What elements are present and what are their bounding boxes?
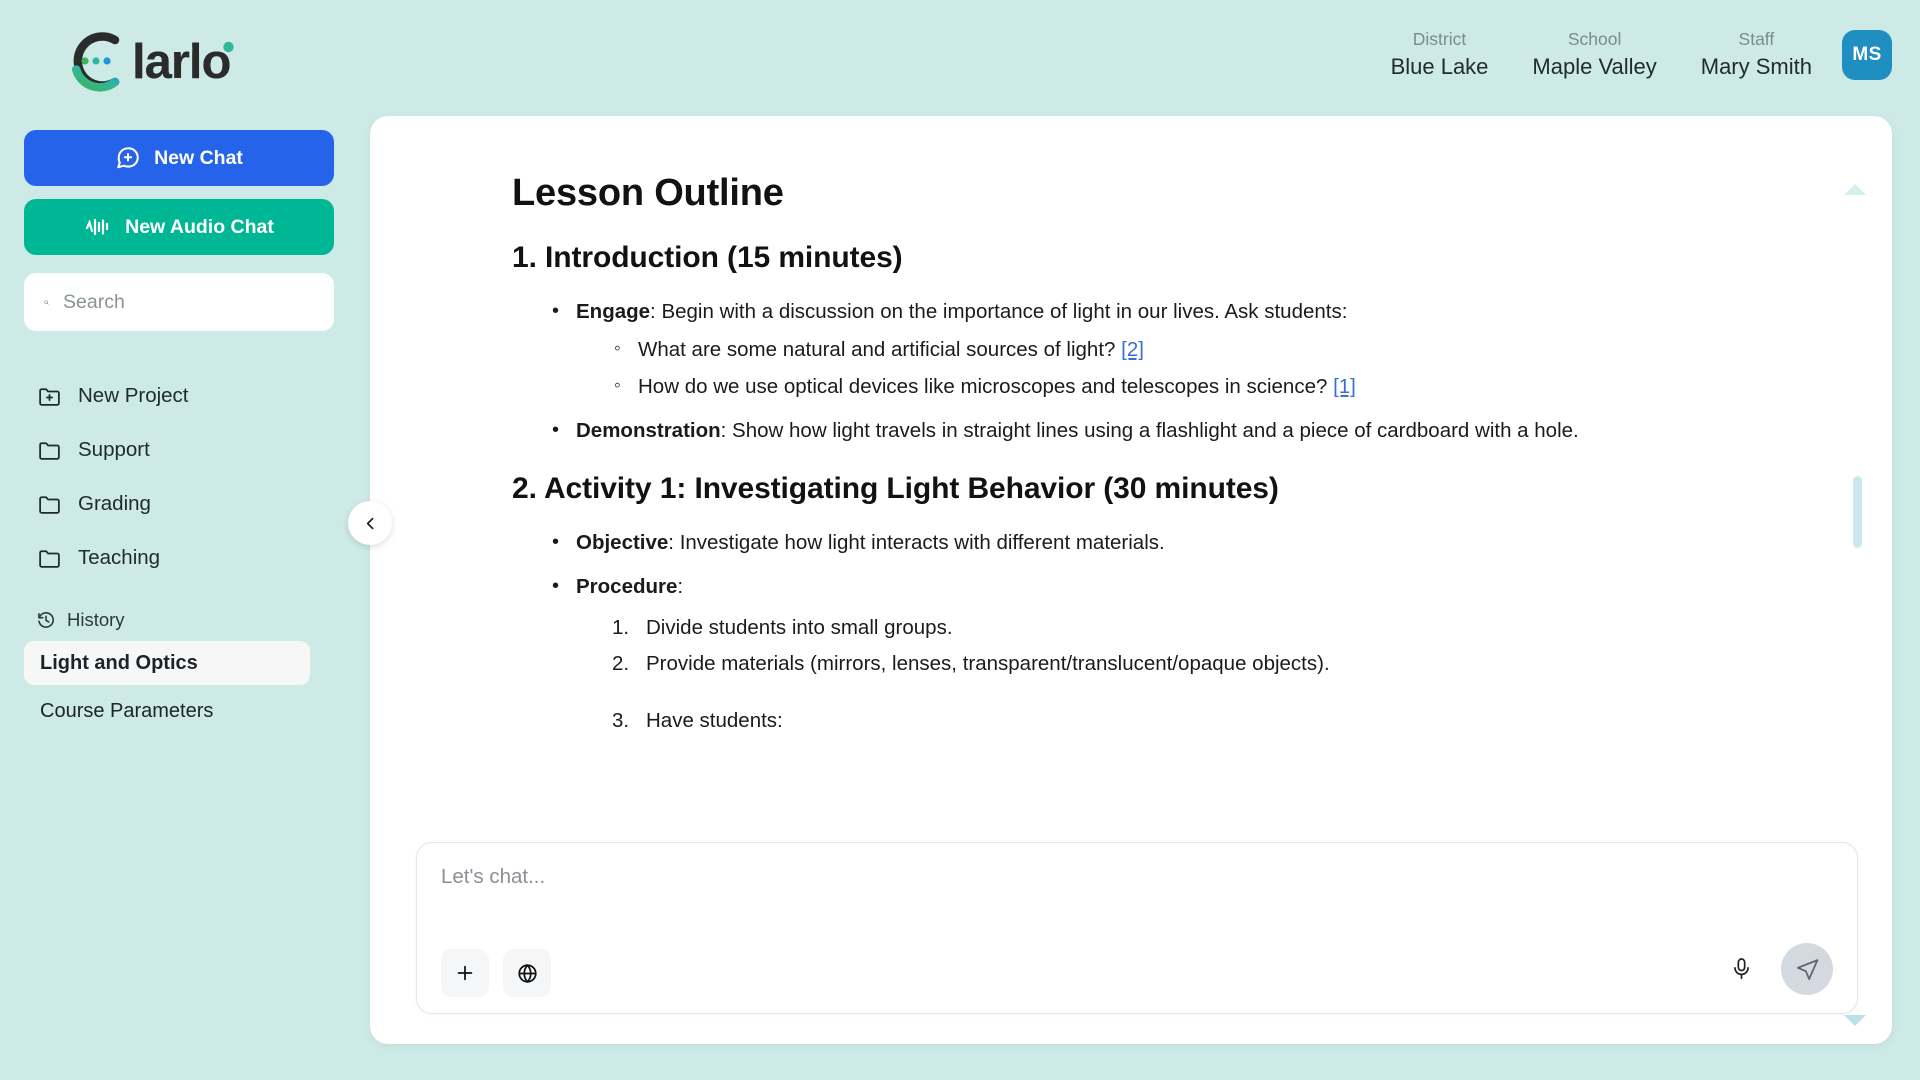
nav-item-support[interactable]: Support bbox=[24, 423, 346, 477]
demonstration-text: : Show how light travels in straight lin… bbox=[721, 419, 1579, 442]
plus-icon bbox=[454, 962, 476, 984]
district-label: District bbox=[1413, 26, 1466, 52]
app-root: larlo lario District Blue Lake School Ma… bbox=[0, 0, 1920, 1080]
demonstration-label: Demonstration bbox=[576, 419, 721, 442]
new-chat-button[interactable]: New Chat bbox=[24, 130, 334, 186]
citation-link-2[interactable]: [2] bbox=[1121, 338, 1144, 361]
lesson-document: Lesson Outline 1. Introduction (15 minut… bbox=[512, 172, 1812, 736]
question-1-text: What are some natural and artificial sou… bbox=[638, 338, 1121, 361]
engage-text: : Begin with a discussion on the importa… bbox=[650, 300, 1347, 323]
document-scroll-area[interactable]: Lesson Outline 1. Introduction (15 minut… bbox=[370, 116, 1892, 842]
folder-icon bbox=[36, 545, 62, 571]
nav-item-grading[interactable]: Grading bbox=[24, 477, 346, 531]
citation-link-1[interactable]: [1] bbox=[1333, 375, 1356, 398]
search-box[interactable] bbox=[24, 273, 334, 331]
page-title: Lesson Outline bbox=[512, 172, 1812, 215]
nav-list: New Project Support bbox=[24, 369, 346, 585]
list-item-demonstration: Demonstration: Show how light travels in… bbox=[548, 416, 1812, 446]
nav-item-new-project[interactable]: New Project bbox=[24, 369, 346, 423]
main-content-card: Lesson Outline 1. Introduction (15 minut… bbox=[370, 116, 1892, 1044]
list-item-question-2: How do we use optical devices like micro… bbox=[612, 372, 1812, 402]
search-icon bbox=[44, 290, 49, 315]
chat-box[interactable]: Let's chat... bbox=[416, 842, 1858, 1014]
chevron-left-icon bbox=[362, 515, 379, 532]
list-item-objective: Objective: Investigate how light interac… bbox=[548, 528, 1812, 558]
intro-bullet-list: Engage: Begin with a discussion on the i… bbox=[548, 297, 1812, 446]
objective-text: : Investigate how light interacts with d… bbox=[668, 531, 1164, 554]
list-item-engage: Engage: Begin with a discussion on the i… bbox=[548, 297, 1812, 402]
chat-actions bbox=[1724, 943, 1833, 995]
nav-item-support-label: Support bbox=[78, 438, 150, 462]
folder-plus-icon bbox=[36, 383, 62, 409]
new-audio-chat-button[interactable]: New Audio Chat bbox=[24, 199, 334, 255]
clario-logo-icon: larlo lario bbox=[60, 28, 275, 94]
web-search-button[interactable] bbox=[503, 949, 551, 997]
nav-item-teaching[interactable]: Teaching bbox=[24, 531, 346, 585]
chat-input-area: Let's chat... bbox=[370, 842, 1892, 1044]
folder-icon bbox=[36, 491, 62, 517]
sidebar: New Chat New Audio Chat bbox=[0, 116, 370, 1080]
send-icon bbox=[1795, 957, 1820, 982]
new-audio-chat-label: New Audio Chat bbox=[125, 216, 274, 239]
procedure-step-1: Divide students into small groups. bbox=[612, 612, 1812, 643]
org-district: District Blue Lake bbox=[1369, 26, 1511, 82]
svg-text:lario: lario bbox=[132, 35, 231, 89]
procedure-text: : bbox=[677, 575, 683, 598]
staff-label: Staff bbox=[1739, 26, 1775, 52]
org-school: School Maple Valley bbox=[1510, 26, 1678, 82]
app-header: larlo lario District Blue Lake School Ma… bbox=[0, 0, 1920, 116]
waveform-icon bbox=[84, 214, 112, 240]
list-item-question-1: What are some natural and artificial sou… bbox=[612, 335, 1812, 365]
chat-input-placeholder[interactable]: Let's chat... bbox=[441, 865, 1835, 889]
nav-item-new-project-label: New Project bbox=[78, 384, 189, 408]
procedure-step-3: Have students: bbox=[612, 705, 1812, 736]
microphone-icon bbox=[1730, 956, 1753, 982]
section-1-heading: 1. Introduction (15 minutes) bbox=[512, 241, 1812, 275]
globe-icon bbox=[516, 962, 539, 985]
new-chat-label: New Chat bbox=[154, 147, 243, 170]
school-label: School bbox=[1568, 26, 1622, 52]
section-2-heading: 2. Activity 1: Investigating Light Behav… bbox=[512, 472, 1812, 506]
objective-label: Objective bbox=[576, 531, 668, 554]
org-staff: Staff Mary Smith bbox=[1679, 26, 1834, 82]
history-header: History bbox=[24, 609, 346, 631]
clario-logo[interactable]: larlo lario bbox=[0, 0, 275, 94]
clock-rewind-icon bbox=[36, 610, 56, 630]
engage-label: Engage bbox=[576, 300, 650, 323]
microphone-button[interactable] bbox=[1724, 950, 1759, 988]
procedure-label: Procedure bbox=[576, 575, 677, 598]
org-context: District Blue Lake School Maple Valley S… bbox=[1369, 0, 1892, 82]
send-button[interactable] bbox=[1781, 943, 1833, 995]
activity-bullet-list: Objective: Investigate how light interac… bbox=[548, 528, 1812, 736]
district-value: Blue Lake bbox=[1391, 52, 1489, 82]
history-item-light-and-optics[interactable]: Light and Optics bbox=[24, 641, 310, 685]
staff-value: Mary Smith bbox=[1701, 52, 1812, 82]
engage-question-list: What are some natural and artificial sou… bbox=[612, 335, 1812, 402]
avatar[interactable]: MS bbox=[1842, 30, 1892, 80]
attach-button[interactable] bbox=[441, 949, 489, 997]
scroll-down-arrow[interactable] bbox=[1844, 1015, 1866, 1026]
procedure-step-2: Provide materials (mirrors, lenses, tran… bbox=[612, 648, 1812, 679]
sidebar-collapse-button[interactable] bbox=[348, 501, 392, 545]
chat-plus-icon bbox=[115, 145, 141, 171]
chat-tool-row bbox=[441, 949, 1835, 997]
history-item-course-parameters[interactable]: Course Parameters bbox=[24, 689, 334, 733]
nav-item-grading-label: Grading bbox=[78, 492, 151, 516]
folder-icon bbox=[36, 437, 62, 463]
list-item-procedure: Procedure: Divide students into small gr… bbox=[548, 572, 1812, 736]
body-row: New Chat New Audio Chat bbox=[0, 116, 1920, 1080]
history-label: History bbox=[67, 609, 125, 631]
procedure-steps: Divide students into small groups. Provi… bbox=[612, 612, 1812, 736]
question-2-text: How do we use optical devices like micro… bbox=[638, 375, 1333, 398]
search-input[interactable] bbox=[63, 291, 314, 314]
school-value: Maple Valley bbox=[1532, 52, 1656, 82]
nav-item-teaching-label: Teaching bbox=[78, 546, 160, 570]
